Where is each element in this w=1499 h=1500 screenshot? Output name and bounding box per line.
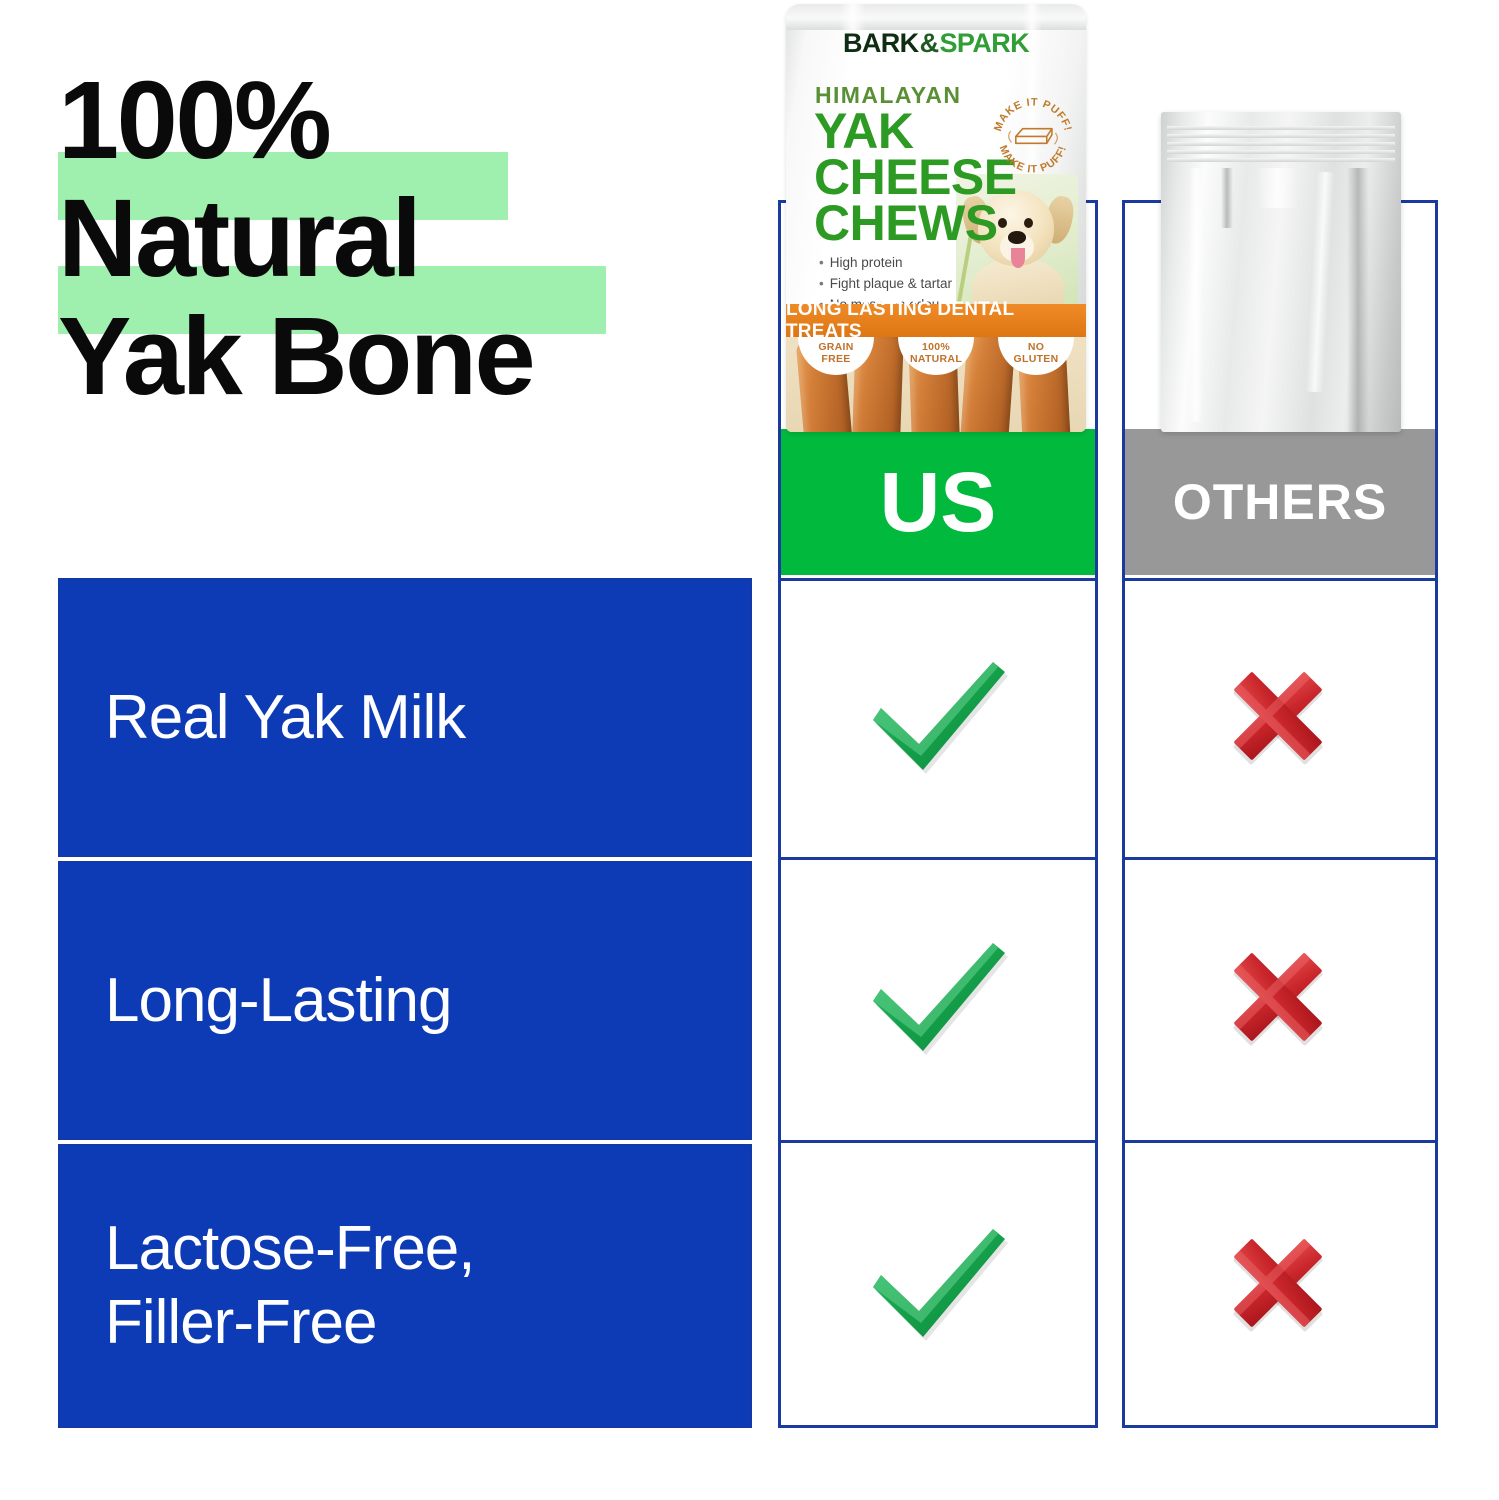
package-crease xyxy=(1305,172,1334,393)
column-header-others-label: OTHERS xyxy=(1173,477,1387,527)
cross-icon xyxy=(1221,1227,1339,1345)
dog-eye-right xyxy=(1024,218,1033,228)
svg-text:MAKE IT PUFF!: MAKE IT PUFF! xyxy=(992,96,1074,133)
cell-others-real-yak-milk xyxy=(1122,581,1438,857)
brand-name-part-2: SPARK xyxy=(940,28,1030,58)
headline-line-2: Natural xyxy=(58,180,758,298)
package-title-line-2: CHEESE xyxy=(814,154,1017,200)
row-divider xyxy=(1122,857,1438,860)
competitor-package-plain-silver xyxy=(1161,112,1401,432)
zipper-ridge xyxy=(1167,126,1395,130)
headline-line-1: 100% xyxy=(58,62,758,180)
cross-icon xyxy=(1221,660,1339,778)
package-banner-text: LONG LASTING DENTAL TREATS xyxy=(786,299,1086,343)
zipper-ridge xyxy=(1167,150,1395,154)
dog-nose xyxy=(1008,231,1026,244)
row-divider xyxy=(778,1140,1098,1143)
page-title: 100% Natural Yak Bone xyxy=(58,62,758,416)
feature-label: Lactose-Free, Filler-Free xyxy=(59,1212,475,1360)
dog-tongue xyxy=(1011,248,1025,268)
package-bullet: High protein xyxy=(819,252,952,273)
brand-logo: BARK&SPARK xyxy=(786,28,1086,59)
feature-row-real-yak-milk: Real Yak Milk xyxy=(58,578,752,857)
zipper-ridge xyxy=(1167,142,1395,146)
package-title-line-3: CHEWS xyxy=(814,200,998,246)
headline-line-1-text: 100% xyxy=(58,59,329,182)
brand-name-part-1: BARK xyxy=(843,28,919,58)
make-it-puff-badge-icon: MAKE IT PUFF! MAKE IT PUFF! xyxy=(990,90,1076,176)
column-header-us: US xyxy=(778,429,1098,575)
check-icon xyxy=(863,654,1013,784)
cell-others-lactose-free xyxy=(1122,1143,1438,1428)
row-divider xyxy=(778,857,1098,860)
check-icon xyxy=(863,1221,1013,1351)
package-shadow xyxy=(1347,168,1369,432)
brand-ampersand: & xyxy=(919,28,940,58)
column-header-others: OTHERS xyxy=(1122,429,1438,575)
feature-label: Long-Lasting xyxy=(59,964,452,1038)
package-tag-list: GRAIN FREE 100% NATURAL NO GLUTEN xyxy=(786,337,1086,379)
cross-icon xyxy=(1221,941,1339,1059)
package-shadow xyxy=(1221,168,1233,228)
cell-us-real-yak-milk xyxy=(778,581,1098,857)
cell-us-lactose-free xyxy=(778,1143,1098,1428)
feature-label: Real Yak Milk xyxy=(59,681,465,755)
feature-row-long-lasting: Long-Lasting xyxy=(58,861,752,1140)
svg-text:MAKE IT PUFF!: MAKE IT PUFF! xyxy=(997,144,1070,176)
package-tag-no-gluten: NO GLUTEN xyxy=(998,337,1074,375)
headline-line-2-text: Natural xyxy=(58,177,419,300)
dog-eye-left xyxy=(998,218,1007,228)
package-title-line-1: YAK xyxy=(814,108,913,154)
headline-line-3-text: Yak Bone xyxy=(58,295,533,418)
cell-us-long-lasting xyxy=(778,860,1098,1140)
package-banner: LONG LASTING DENTAL TREATS xyxy=(786,304,1086,337)
row-divider xyxy=(778,578,1098,581)
row-divider xyxy=(1122,1140,1438,1143)
column-header-us-label: US xyxy=(880,460,997,544)
package-tag-grain-free: GRAIN FREE xyxy=(798,337,874,375)
row-divider xyxy=(1122,578,1438,581)
zipper-ridge xyxy=(1167,134,1395,138)
zipper-ridge xyxy=(1167,158,1395,162)
headline-line-3: Yak Bone xyxy=(58,298,758,416)
competitor-package-body xyxy=(1161,112,1401,432)
package-tag-natural: 100% NATURAL xyxy=(898,337,974,375)
package-body: BARK&SPARK HIMALAYAN YAK CHEESE CHEWS Hi… xyxy=(786,4,1086,432)
product-package-bark-and-spark: BARK&SPARK HIMALAYAN YAK CHEESE CHEWS Hi… xyxy=(786,4,1086,432)
feature-row-lactose-free: Lactose-Free, Filler-Free xyxy=(58,1144,752,1428)
package-crease xyxy=(1189,168,1203,422)
check-icon xyxy=(863,935,1013,1065)
package-crease xyxy=(1257,168,1297,208)
cell-others-long-lasting xyxy=(1122,860,1438,1140)
package-bullet: Fight plaque & tartar xyxy=(819,273,952,294)
